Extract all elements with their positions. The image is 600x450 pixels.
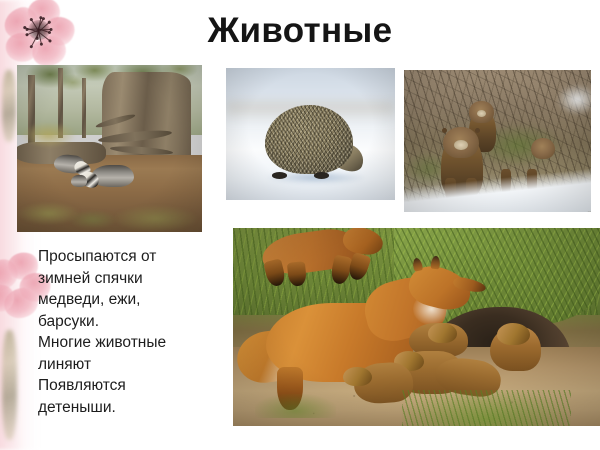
stem-texture-top xyxy=(2,70,16,142)
snow-patch xyxy=(557,84,591,115)
tree-trunk xyxy=(82,78,86,138)
bear-muzzle xyxy=(477,110,486,117)
fox-kit-head xyxy=(343,367,372,387)
bear-ear xyxy=(442,128,447,133)
page-title: Животные xyxy=(0,13,600,50)
hedgehog-foot xyxy=(314,172,329,179)
bear-cub-head xyxy=(531,138,555,159)
badger-scene xyxy=(17,65,202,232)
fox-kit-head xyxy=(497,323,530,345)
fox-kit-head xyxy=(428,323,457,343)
badger-photo[interactable] xyxy=(17,65,202,232)
grass-patch xyxy=(69,210,117,228)
slide-canvas: Животные xyxy=(0,0,600,450)
stem-texture-bottom xyxy=(2,330,17,440)
hedgehog-photo[interactable] xyxy=(226,68,395,200)
bear-muzzle xyxy=(454,140,467,150)
badger-cub xyxy=(71,175,88,187)
hedgehog-foot xyxy=(272,172,287,179)
hedgehog-spines xyxy=(265,105,353,174)
grass-patch xyxy=(113,205,198,232)
hedgehog-animal xyxy=(265,105,353,174)
grass-foreground xyxy=(402,390,571,426)
bear-photo[interactable] xyxy=(404,70,591,212)
grass-foreground xyxy=(255,394,336,418)
bear-ear xyxy=(475,128,480,133)
slide-body-text: Просыпаются от зимней спячки медведи, еж… xyxy=(38,246,203,418)
fox-photo[interactable] xyxy=(233,228,600,426)
